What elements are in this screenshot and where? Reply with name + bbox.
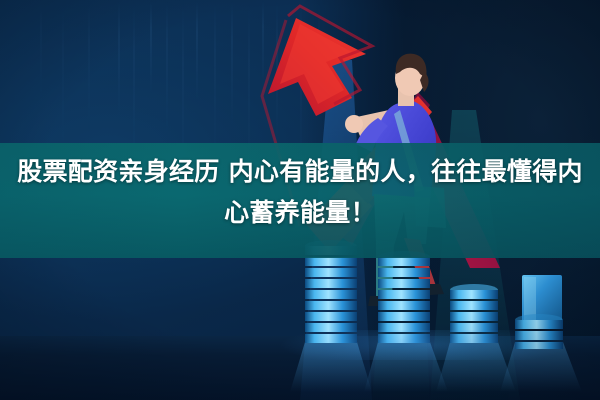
page-title: 股票配资亲身经历 内心有能量的人，往往最懂得内心蓄养能量！ (0, 151, 600, 233)
banner-image: 股票配资亲身经历 内心有能量的人，往往最懂得内心蓄养能量！ (0, 0, 600, 400)
